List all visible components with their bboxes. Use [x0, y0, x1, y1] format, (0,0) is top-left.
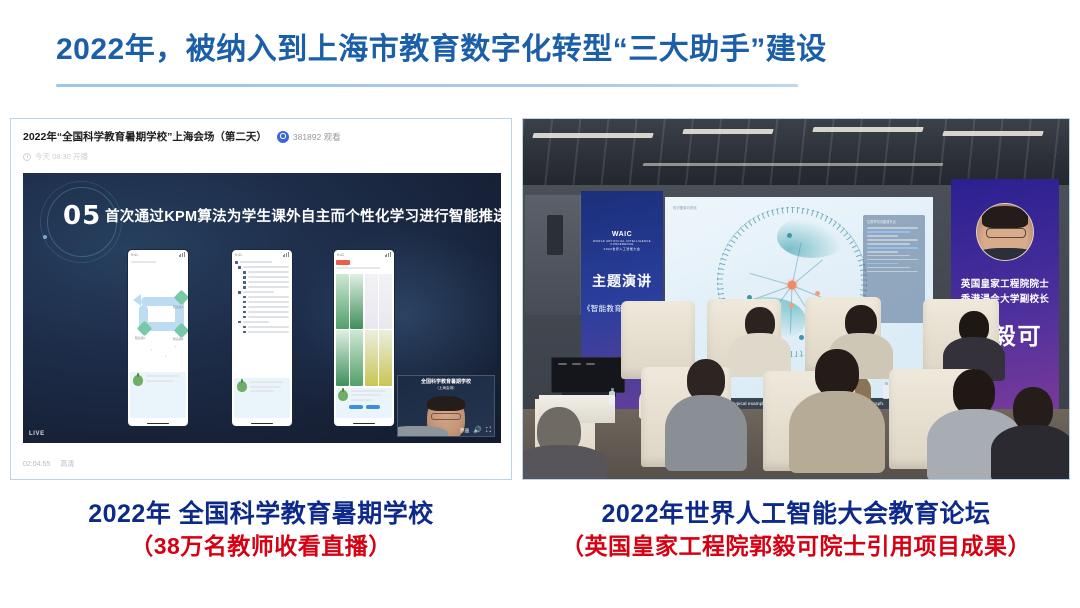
- bullet-icon: [243, 326, 246, 329]
- conference-photo: 知识图谱可视化: [523, 119, 1069, 479]
- knowledge-flow-diagram: 知识点A 知识点B 知识点C: [131, 279, 185, 375]
- livestream-start-time: 今天 08:30 开播: [35, 151, 88, 162]
- banner-theme: 主题演讲: [581, 271, 663, 291]
- phone-clock: 9:41: [235, 253, 242, 257]
- caption-left-line1: 2022年 全国科学教育暑期学校: [10, 500, 512, 530]
- clock-icon: [23, 153, 31, 161]
- volume-icon[interactable]: 🔊: [473, 427, 482, 434]
- bullet-icon: [243, 296, 246, 299]
- ceiling-light: [812, 127, 923, 132]
- waic-subtitle-en: WORLD ARTIFICIAL INTELLIGENCE CONFERENCE: [581, 240, 663, 246]
- list-item: [235, 301, 289, 304]
- mascot-icon: [338, 390, 348, 401]
- livestream-title: 2022年“全国科学教育暑期学校”上海会场（第二天）: [23, 129, 267, 144]
- list-item: [235, 266, 289, 269]
- slide-number-badge: 05: [63, 201, 101, 231]
- audience-body: [991, 425, 1069, 479]
- ceiling-light: [532, 133, 653, 138]
- signal-icon: [179, 252, 185, 257]
- playback-duration: 02:04:55: [23, 461, 50, 468]
- phone-mockup-outline: 9:41: [231, 249, 293, 427]
- signal-icon: [385, 252, 391, 257]
- audience-body: [789, 391, 885, 473]
- caption-right-line1: 2022年世界人工智能大会教育论坛: [522, 500, 1070, 530]
- graph-node: [799, 335, 804, 340]
- suit: [976, 248, 1034, 261]
- graph-node-highlight: [815, 291, 820, 296]
- live-badge: LIVE: [29, 431, 45, 437]
- list-item: [235, 306, 289, 309]
- flow-node-a-label: 知识点A: [173, 305, 183, 309]
- phone-clock: 9:41: [131, 253, 138, 257]
- bullet-icon: [243, 301, 246, 304]
- bullet-icon: [243, 271, 246, 274]
- livestream-screenshot-panel: 2022年“全国科学教育暑期学校”上海会场（第二天） 381892 观看 今天 …: [10, 118, 512, 480]
- decorative-dot: [43, 235, 47, 239]
- video-player[interactable]: 05 首次通过KPM算法为学生课外自主而个性化学习进行智能推送 9:41: [23, 173, 501, 443]
- ceiling-light: [942, 131, 1043, 136]
- report-summary-card: [336, 388, 392, 418]
- livestream-header: 2022年“全国科学教育暑期学校”上海会场（第二天） 381892 观看 今天 …: [11, 119, 511, 166]
- caption-left-line2: （38万名教师收看直播）: [10, 533, 512, 560]
- waic-logo: WAIC WORLD ARTIFICIAL INTELLIGENCE CONFE…: [581, 231, 663, 251]
- slide-headline: 首次通过KPM算法为学生课外自主而个性化学习进行智能推送: [105, 205, 501, 226]
- conference-photo-panel: 知识图谱可视化: [522, 118, 1070, 480]
- loudspeaker: [547, 215, 563, 255]
- list-item: [235, 311, 289, 314]
- speaker-pip[interactable]: 全国科学教育暑期学校 （上海会场） 原画 🔊 ⛶: [397, 375, 495, 437]
- bullet-icon: [243, 306, 246, 309]
- mascot-icon: [133, 375, 143, 386]
- report-tag: [336, 260, 350, 265]
- recommendation-card: [234, 378, 290, 418]
- phone-home-indicator: [353, 423, 375, 424]
- side-panel-title: 生物学知识图谱节点: [867, 219, 921, 224]
- skeleton-line: [146, 375, 179, 377]
- flow-node-c-label: 知识点C: [135, 336, 145, 340]
- bullet-icon: [243, 311, 246, 314]
- scatter-decoration: [137, 341, 185, 363]
- viewer-count-group: 381892 观看: [277, 131, 341, 143]
- list-item: [235, 316, 289, 319]
- bullet-icon: [243, 316, 246, 319]
- report-column: [350, 274, 363, 386]
- graph-node: [787, 233, 792, 238]
- audience-body: [665, 395, 747, 471]
- bullet-icon: [238, 266, 241, 269]
- pip-controls[interactable]: 原画 🔊 ⛶: [460, 427, 491, 434]
- skeleton-line: [131, 261, 156, 263]
- phone-home-indicator: [147, 423, 169, 424]
- list-item: [235, 321, 289, 324]
- graph-center-node: [788, 281, 797, 290]
- report-column: [336, 274, 349, 386]
- phone-status-bar: 9:41: [232, 250, 292, 259]
- phone-home-indicator: [251, 423, 273, 424]
- bullet-icon: [243, 331, 246, 334]
- list-item: [235, 331, 289, 334]
- speaker-role-line1: 英国皇家工程院院士: [951, 277, 1059, 292]
- list-item: [235, 326, 289, 329]
- skeleton-line: [146, 380, 173, 382]
- player-footer: 02:04:55 高清: [23, 459, 74, 469]
- monitor-buttons: [558, 363, 595, 365]
- bullet-icon: [238, 321, 241, 324]
- speaker-shoulders: [397, 426, 448, 437]
- signal-icon: [283, 252, 289, 257]
- phone-mockup-report: 9:41: [333, 249, 395, 427]
- waic-mark: WAIC: [581, 231, 663, 238]
- pip-caption-sub: （上海会场）: [398, 386, 494, 391]
- report-action-button[interactable]: [349, 405, 363, 409]
- quality-label[interactable]: 原画: [460, 428, 469, 434]
- mascot-icon: [237, 381, 247, 392]
- graph-node-highlight: [789, 303, 794, 308]
- audience-body: [523, 445, 607, 479]
- led-screen-title: 知识图谱可视化: [673, 205, 697, 210]
- list-item: [235, 271, 289, 274]
- report-column: [379, 274, 392, 386]
- eye-icon: [277, 131, 289, 143]
- report-action-button[interactable]: [366, 405, 380, 409]
- list-item: [235, 286, 289, 289]
- phone-clock: 9:41: [337, 253, 344, 257]
- speaker-avatar: [976, 203, 1034, 261]
- viewer-count: 381892 观看: [293, 131, 341, 143]
- bullet-icon: [243, 281, 246, 284]
- caption-right: 2022年世界人工智能大会教育论坛 （英国皇家工程院郭毅可院士引用项目成果）: [522, 500, 1070, 560]
- hair: [427, 396, 465, 411]
- water-bottle: [609, 391, 615, 405]
- phone-status-bar: 9:41: [128, 250, 188, 259]
- bullet-icon: [235, 261, 238, 264]
- glasses-icon: [986, 228, 1026, 238]
- door-panel: [525, 195, 581, 315]
- flow-arrow-icon: [133, 294, 141, 306]
- stage-monitor: [551, 357, 625, 393]
- caption-left: 2022年 全国科学教育暑期学校 （38万名教师收看直播）: [10, 500, 512, 560]
- bullet-icon: [243, 286, 246, 289]
- page-title: 2022年，被纳入到上海市教育数字化转型“三大助手”建设: [56, 24, 827, 68]
- ceiling-light: [682, 129, 773, 134]
- list-item: [235, 276, 289, 279]
- fullscreen-icon[interactable]: ⛶: [486, 427, 491, 434]
- ceiling-rail: [643, 163, 944, 166]
- list-item: [235, 261, 289, 264]
- caption-right-line2: （英国皇家工程院郭毅可院士引用项目成果）: [522, 533, 1070, 560]
- list-item: [235, 291, 289, 294]
- phone-content-outline: [232, 259, 292, 338]
- report-column: [365, 274, 378, 386]
- pip-caption: 全国科学教育暑期学校 （上海会场）: [398, 379, 494, 391]
- phone-status-bar: 9:41: [334, 250, 394, 259]
- playback-quality[interactable]: 高清: [60, 459, 74, 469]
- phone-mockup-flow: 9:41 知识点A 知识点B 知识点C: [127, 249, 189, 427]
- hair: [982, 206, 1028, 228]
- bullet-icon: [238, 291, 241, 294]
- report-columns: [334, 274, 394, 386]
- recommendation-card: [130, 372, 186, 418]
- list-item: [235, 296, 289, 299]
- list-item: [235, 281, 289, 284]
- phone-content-flow: 知识点A 知识点B 知识点C: [128, 259, 188, 377]
- waic-subtitle-cn: 2022世界人工智能大会: [581, 247, 663, 251]
- glasses-icon: [431, 413, 461, 420]
- bullet-icon: [243, 276, 246, 279]
- title-underline: [56, 84, 798, 87]
- audience-head: [815, 349, 859, 397]
